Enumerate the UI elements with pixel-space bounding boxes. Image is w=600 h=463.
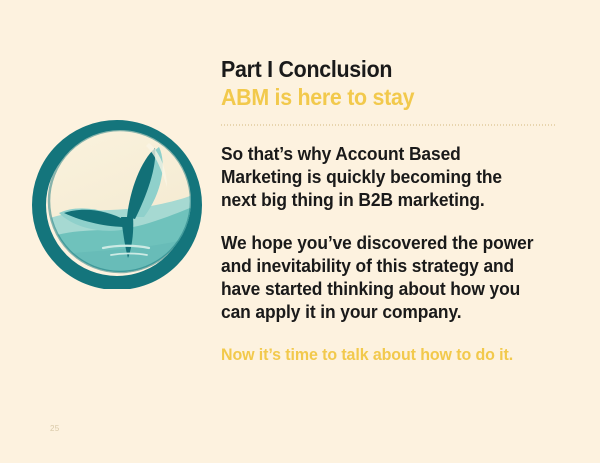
slide-canvas: Part I Conclusion ABM is here to stay So… <box>0 0 600 463</box>
dotted-divider <box>221 124 555 126</box>
page-subtitle: ABM is here to stay <box>221 83 537 111</box>
page-title: Part I Conclusion <box>221 56 537 83</box>
page-number: 25 <box>50 424 60 433</box>
whale-tail-circle-logo <box>31 117 203 289</box>
whale-tail-logo-svg <box>31 117 203 289</box>
body-paragraph-2: We hope you’ve discovered the power and … <box>221 231 541 323</box>
body-paragraph-1: So that’s why Account Based Marketing is… <box>221 142 541 211</box>
closing-callout: Now it’s time to talk about how to do it… <box>221 344 541 366</box>
content-column: Part I Conclusion ABM is here to stay So… <box>221 56 561 366</box>
heading-group: Part I Conclusion ABM is here to stay <box>221 56 561 111</box>
